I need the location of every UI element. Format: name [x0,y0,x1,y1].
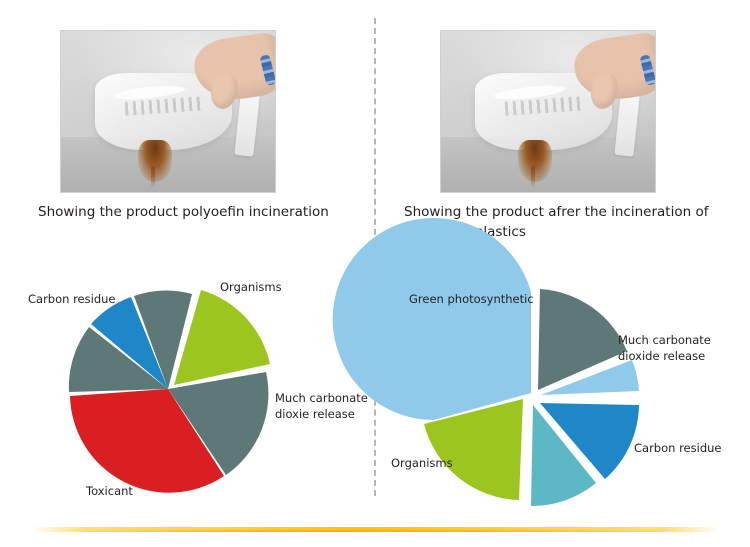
slice-green-photosynthetic[interactable] [333,218,531,420]
left-label-much-carbonate: Much carbonate dioxie release [275,391,368,422]
burn-drip [151,166,155,188]
bag-printed-text [505,96,585,115]
burn-drip [531,166,535,188]
photo-polyolefin-incineration [60,30,276,193]
right-label-much-carbonate: Much carbonate dioxide release [618,333,711,364]
bottom-accent-rule [30,527,720,532]
left-label-toxicant: Toxicant [86,484,133,500]
bag-printed-text [125,96,205,115]
left-photo-caption: Showing the product polyoefin incinerati… [38,203,354,223]
left-pie-slices [69,290,270,493]
right-label-organisms: Organisms [391,456,453,472]
right-pie-chart [428,292,658,497]
photo-biobased-incineration [440,30,656,193]
left-pie-chart [58,282,278,497]
left-label-organisms: Organisms [220,280,282,296]
left-panel: Showing the product polyoefin incinerati… [0,0,375,547]
right-label-carbon-residue: Carbon residue [634,441,722,457]
left-pie-svg [58,282,278,497]
right-pie-svg [428,292,658,497]
right-label-green-photosynthetic: Green photosynthetic [409,292,534,308]
slide-canvas: Showing the product polyoefin incinerati… [0,0,750,547]
left-label-carbon-residue: Carbon residue [28,292,116,308]
